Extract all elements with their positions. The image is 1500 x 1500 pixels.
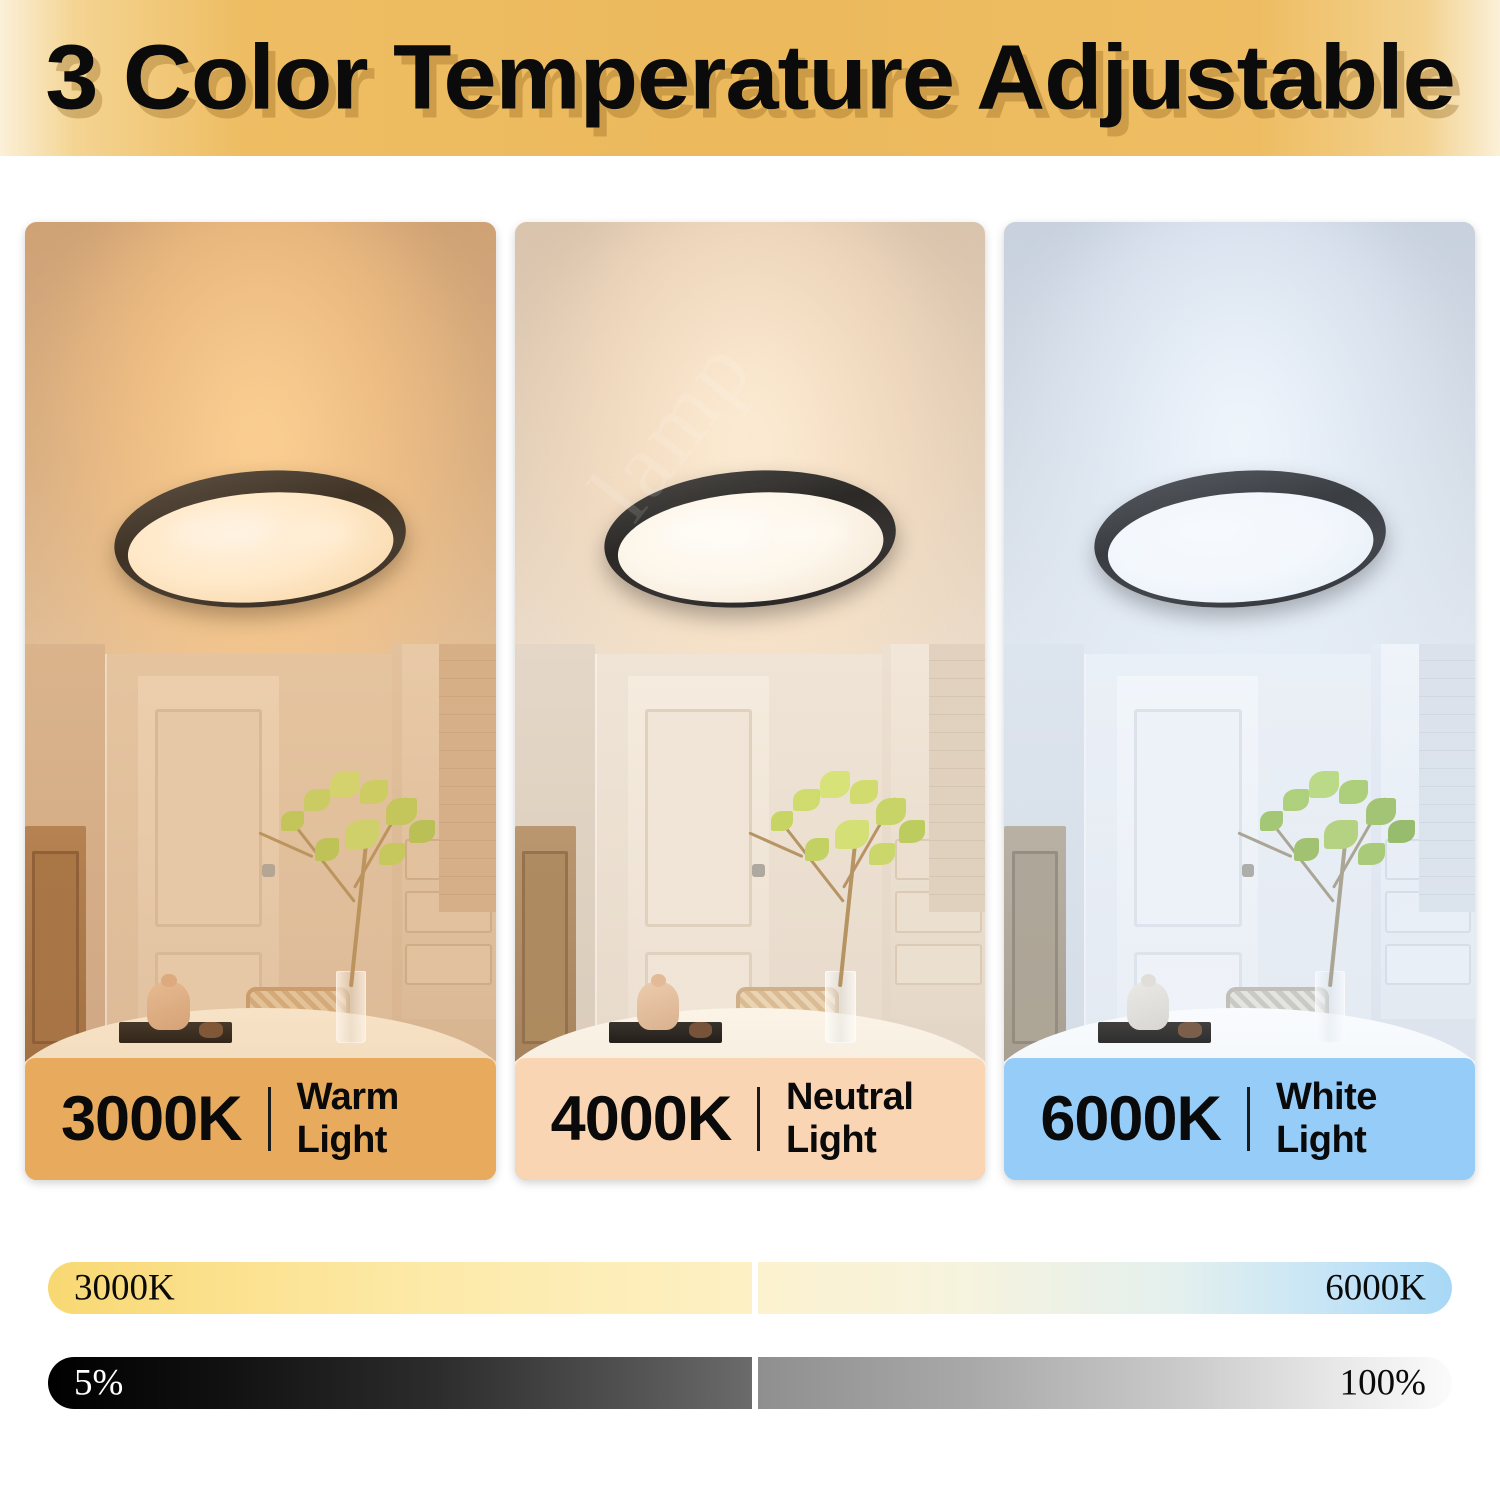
kelvin-value: 6000K bbox=[1040, 1083, 1221, 1155]
ceiling-light-fixture bbox=[1089, 461, 1390, 618]
door-panel-upper bbox=[1134, 709, 1241, 927]
cct-warm-segment[interactable]: 3000K bbox=[48, 1262, 752, 1314]
kelvin-value: 3000K bbox=[61, 1083, 242, 1155]
teapot bbox=[1127, 982, 1169, 1030]
label-bar-white: 6000K White Light bbox=[1004, 1058, 1475, 1180]
cct-cool-segment[interactable]: 6000K bbox=[758, 1262, 1452, 1314]
room-scene-warm bbox=[25, 222, 496, 1180]
label-bar-neutral: 4000K Neutral Light bbox=[515, 1058, 986, 1180]
brightness-high-segment[interactable]: 100% bbox=[758, 1357, 1452, 1409]
label-divider bbox=[757, 1087, 760, 1151]
label-divider bbox=[1247, 1087, 1250, 1151]
color-temperature-slider[interactable]: 3000K 6000K bbox=[48, 1262, 1452, 1314]
cabinet-door bbox=[1012, 851, 1058, 1044]
brightness-slider[interactable]: 5% 100% bbox=[48, 1357, 1452, 1409]
tea-snack bbox=[1178, 1022, 1202, 1038]
teapot bbox=[637, 982, 679, 1030]
tea-snack bbox=[199, 1022, 223, 1038]
cct-max-label: 6000K bbox=[1325, 1267, 1426, 1310]
room-scene-white bbox=[1004, 222, 1475, 1180]
teapot-lid bbox=[161, 974, 176, 987]
label-divider bbox=[268, 1087, 271, 1151]
cabinet-door bbox=[32, 851, 78, 1044]
brightness-max-label: 100% bbox=[1340, 1362, 1426, 1405]
ceiling-light-fixture bbox=[110, 461, 411, 618]
door-panel-upper bbox=[155, 709, 262, 927]
cct-min-label: 3000K bbox=[74, 1267, 175, 1310]
plant-branch bbox=[759, 762, 947, 987]
page-title: 3 Color Temperature Adjustable bbox=[0, 26, 1500, 131]
cabinet-door bbox=[522, 851, 568, 1044]
label-bar-warm: 3000K Warm Light bbox=[25, 1058, 496, 1180]
comparison-panel-row: 3000K Warm Light bbox=[25, 222, 1475, 1180]
teapot bbox=[147, 982, 189, 1030]
room-scene-neutral: lamp bbox=[515, 222, 986, 1180]
comparison-panel-warm: 3000K Warm Light bbox=[25, 222, 496, 1180]
comparison-panel-neutral: lamp 4000K Neutral Light bbox=[515, 222, 986, 1180]
header-banner: 3 Color Temperature Adjustable bbox=[0, 0, 1500, 156]
plant-branch bbox=[1249, 762, 1437, 987]
ceiling-light-fixture bbox=[600, 461, 901, 618]
comparison-panel-white: 6000K White Light bbox=[1004, 222, 1475, 1180]
teapot-lid bbox=[651, 974, 666, 987]
brightness-min-label: 5% bbox=[74, 1362, 123, 1405]
door-panel-upper bbox=[645, 709, 752, 927]
brightness-low-segment[interactable]: 5% bbox=[48, 1357, 752, 1409]
tea-snack bbox=[689, 1022, 713, 1038]
kelvin-value: 4000K bbox=[551, 1083, 732, 1155]
plant-branch bbox=[270, 762, 458, 987]
teapot-lid bbox=[1141, 974, 1156, 987]
light-name: Warm Light bbox=[297, 1076, 496, 1162]
light-name: White Light bbox=[1276, 1076, 1475, 1162]
light-name: Neutral Light bbox=[786, 1076, 985, 1162]
